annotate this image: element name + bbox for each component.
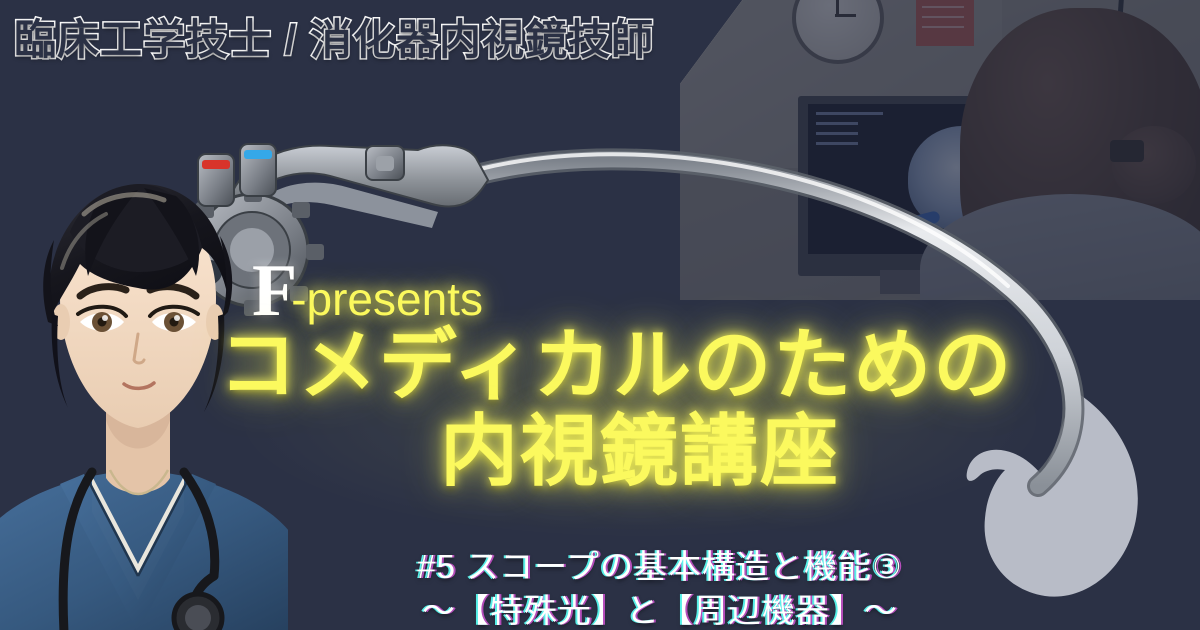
brand-presents-label: -presents — [291, 272, 483, 326]
episode-subtitle: #5 スコープの基本構造と機能③ 〜【特殊光】と【周辺機器】〜 — [0, 545, 1200, 630]
brand-logo: F -presents — [252, 258, 483, 324]
endoscope-illustration — [180, 140, 1190, 560]
page-header-title: 臨床工学技士 / 消化器内視鏡技師 — [14, 6, 654, 67]
episode-subtitle-line-2: 〜【特殊光】と【周辺機器】〜 — [120, 589, 1200, 630]
thumbnail-canvas: 臨床工学技士 / 消化器内視鏡技師 F -presents コメディカルのための… — [0, 0, 1200, 630]
episode-subtitle-line-1: #5 スコープの基本構造と機能③ — [120, 545, 1200, 589]
